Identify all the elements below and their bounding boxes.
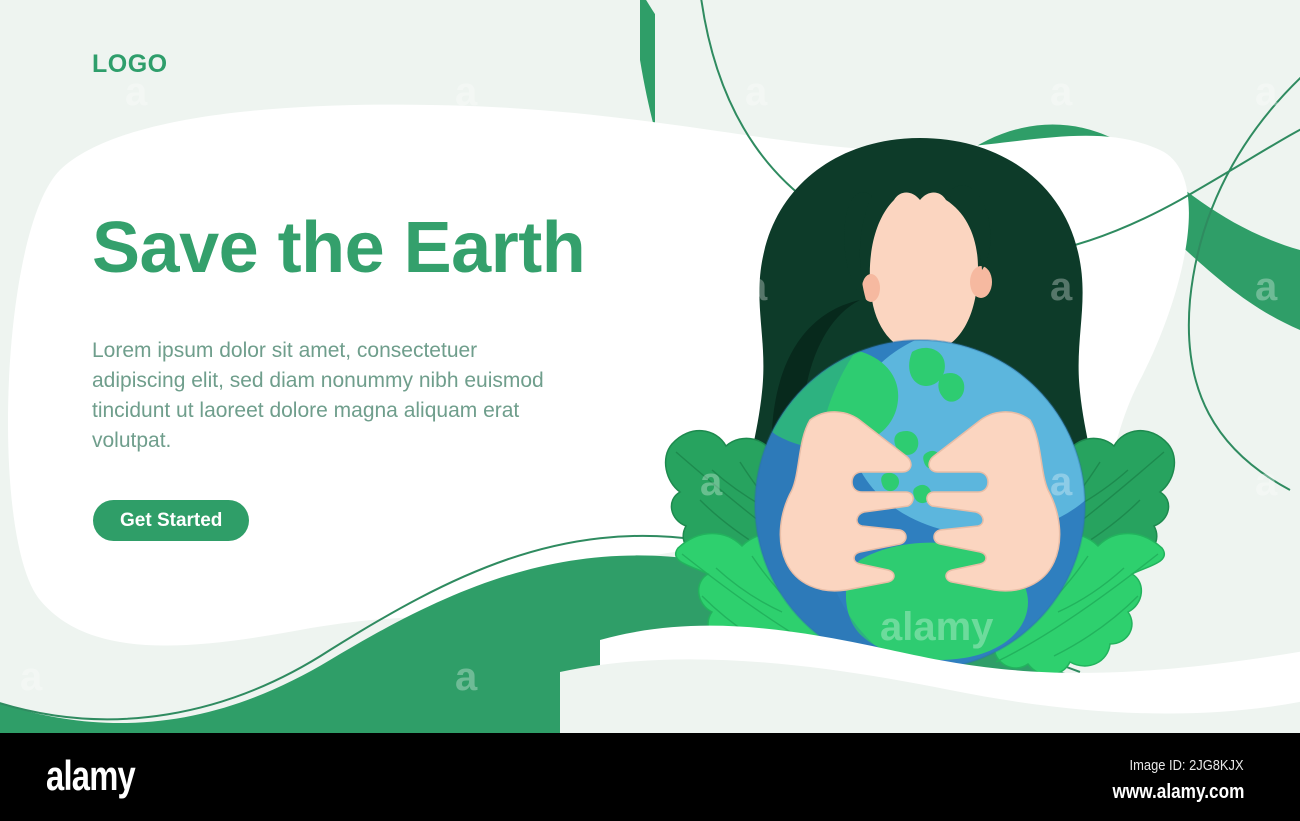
svg-text:a: a [1255, 655, 1278, 699]
svg-text:a: a [745, 70, 768, 114]
svg-text:a: a [20, 655, 43, 699]
svg-text:a: a [1050, 70, 1073, 114]
alamy-watermark-bar: alamy Image ID: 2JG8KJX www.alamy.com [0, 733, 1300, 821]
face [870, 193, 978, 353]
svg-text:a: a [1255, 460, 1278, 504]
svg-text:a: a [1050, 265, 1073, 309]
svg-text:a: a [455, 460, 478, 504]
svg-text:a: a [1255, 70, 1278, 114]
hero-description: Lorem ipsum dolor sit amet, consectetuer… [92, 336, 572, 456]
logo-text: LOGO [92, 52, 712, 77]
get-started-button[interactable]: Get Started [93, 500, 249, 541]
svg-text:a: a [700, 460, 723, 504]
svg-text:a: a [1255, 265, 1278, 309]
alamy-url: www.alamy.com [1112, 781, 1244, 804]
svg-text:a: a [455, 655, 478, 699]
image-id-label: Image ID: 2JG8KJX [1130, 757, 1244, 774]
ear-right [970, 266, 992, 298]
svg-text:a: a [1050, 460, 1073, 504]
hero-stage: a a a a a a a a a a a a a a a a a alamy … [0, 0, 1300, 733]
svg-text:alamy: alamy [880, 605, 994, 649]
svg-text:a: a [125, 460, 148, 504]
alamy-logo: alamy [46, 755, 135, 797]
page-title: Save the Earth [92, 212, 585, 284]
svg-text:a: a [745, 265, 768, 309]
brand-logo[interactable]: LOGO [92, 52, 712, 77]
